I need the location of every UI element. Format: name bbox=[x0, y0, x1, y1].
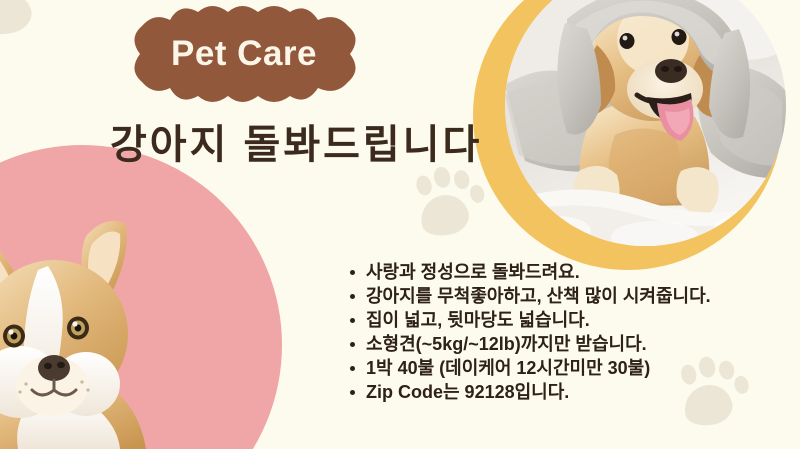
pet-care-poster: Pet Care 강아지 돌봐드립니다 사랑과 정성으로 돌봐드려요. 강아지를… bbox=[0, 0, 800, 449]
corgi-photo bbox=[0, 200, 220, 449]
paw-print-top-left-icon bbox=[0, 0, 58, 50]
pet-care-badge: Pet Care bbox=[124, 4, 364, 104]
list-item: Zip Code는 92128입니다. bbox=[348, 380, 711, 404]
list-item: 소형견(~5kg/~12lb)까지만 받습니다. bbox=[348, 332, 711, 356]
pet-care-badge-label: Pet Care bbox=[124, 4, 364, 104]
service-details-list: 사랑과 정성으로 돌봐드려요. 강아지를 무척좋아하고, 산책 많이 시켜줍니다… bbox=[348, 260, 711, 404]
list-item: 사랑과 정성으로 돌봐드려요. bbox=[348, 260, 711, 284]
page-title: 강아지 돌봐드립니다 bbox=[110, 112, 490, 170]
list-item: 1박 40불 (데이케어 12시간미만 30불) bbox=[348, 356, 711, 380]
paw-print-center-icon bbox=[404, 160, 494, 250]
list-item: 집이 넓고, 뒷마당도 넓습니다. bbox=[348, 308, 711, 332]
list-item: 강아지를 무척좋아하고, 산책 많이 시켜줍니다. bbox=[348, 284, 711, 308]
